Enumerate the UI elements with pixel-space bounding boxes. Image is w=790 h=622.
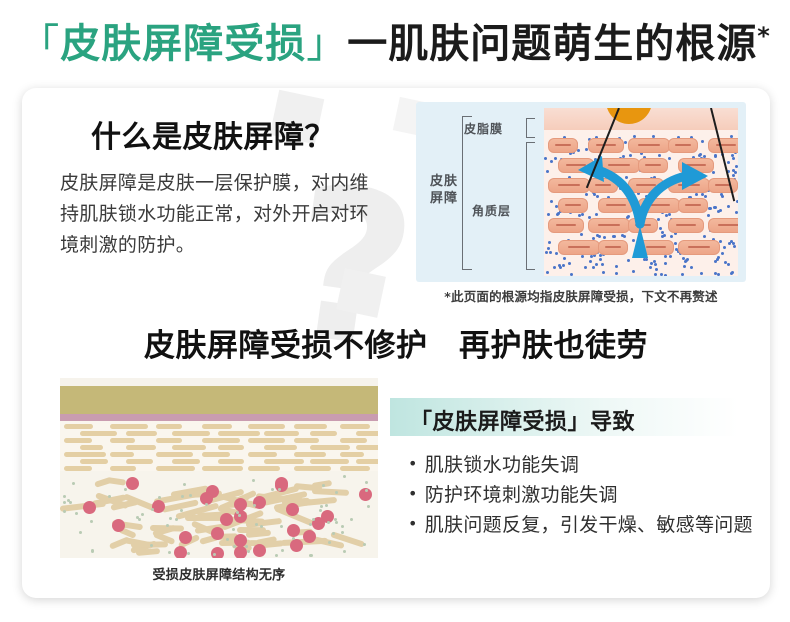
list-item-label: 防护环境刺激功能失调 bbox=[425, 480, 618, 510]
lipid-streak bbox=[110, 466, 136, 471]
green-speck bbox=[63, 495, 66, 498]
page-title-text: 「皮肤屏障受损」一肌肤问题萌生的根源* bbox=[19, 24, 771, 64]
lipid-streak bbox=[64, 424, 93, 429]
lipid-streak bbox=[172, 445, 206, 450]
green-speck bbox=[181, 495, 184, 498]
green-speck bbox=[166, 524, 169, 527]
green-speck bbox=[365, 489, 368, 492]
lipid-streak bbox=[310, 459, 349, 464]
corneum-bracket bbox=[526, 142, 535, 270]
photo-mauve-layer bbox=[60, 414, 378, 421]
lipid-streak bbox=[126, 431, 157, 436]
damaged-barrier-illustration bbox=[60, 378, 378, 558]
green-speck bbox=[319, 509, 322, 512]
label-skin-barrier-line1: 皮肤 bbox=[430, 174, 458, 189]
sebum-bracket bbox=[526, 118, 535, 138]
green-speck bbox=[341, 531, 344, 534]
pink-particle bbox=[303, 530, 316, 543]
lipid-streak bbox=[202, 438, 240, 443]
diagram-footnote: *此页面的根源均指皮肤屏障受损，下文不再赘述 bbox=[416, 286, 746, 305]
pink-particle bbox=[253, 544, 266, 557]
lipid-streak bbox=[110, 452, 134, 457]
lipid-streak bbox=[294, 466, 331, 471]
green-speck bbox=[252, 479, 255, 482]
green-speck bbox=[278, 488, 281, 491]
lipid-streak bbox=[156, 438, 182, 443]
green-speck bbox=[312, 518, 315, 521]
green-speck bbox=[253, 504, 256, 507]
diagram-skin-cross-section bbox=[544, 108, 738, 276]
lipid-streak bbox=[172, 431, 210, 436]
pink-particle bbox=[287, 524, 300, 537]
green-speck bbox=[335, 521, 338, 524]
lipid-streak bbox=[248, 424, 285, 429]
list-item-label: 肌肤问题反复，引发干燥、敏感等问题 bbox=[425, 510, 753, 540]
lipid-streak bbox=[202, 466, 243, 471]
what-is-barrier-body: 皮肤屏障是皮肤一层保护膜，对内维持肌肤锁水功能正常，对外开启对环境刺激的防护。 bbox=[60, 168, 378, 260]
bullet-marker: • bbox=[408, 450, 418, 478]
watermark-square bbox=[336, 268, 386, 318]
lipid-streak bbox=[218, 459, 244, 464]
label-skin-barrier-line2: 屏障 bbox=[430, 191, 458, 206]
photo-caption: 受损皮肤屏障结构无序 bbox=[60, 564, 378, 583]
lipid-streak bbox=[310, 445, 350, 450]
lipid-streak bbox=[340, 452, 364, 457]
title-highlight: 皮肤屏障受损 bbox=[60, 21, 306, 67]
label-skin-barrier: 皮肤屏障 bbox=[424, 174, 464, 207]
green-speck bbox=[325, 504, 328, 507]
lipid-streak bbox=[248, 466, 280, 471]
green-speck bbox=[335, 491, 338, 494]
lipid-streak bbox=[356, 459, 378, 464]
lipid-streak bbox=[340, 438, 367, 443]
consequences-list: •肌肤锁水功能失调•防护环境刺激功能失调•肌肤问题反复，引发干燥、敏感等问题 bbox=[408, 450, 758, 540]
green-speck bbox=[247, 550, 250, 553]
lipid-streak bbox=[126, 459, 153, 464]
green-speck bbox=[332, 532, 335, 535]
lipid-streak bbox=[294, 452, 326, 457]
green-speck bbox=[280, 525, 283, 528]
lipid-streak bbox=[264, 459, 304, 464]
pink-particle bbox=[179, 531, 192, 544]
green-speck bbox=[236, 511, 239, 514]
content-card: ? 什么是皮肤屏障？ 皮肤屏障是皮肤一层保护膜，对内维持肌肤锁水功能正常，对外开… bbox=[22, 88, 770, 598]
diagram-labels: 皮脂膜 皮肤屏障 角质层 bbox=[416, 102, 544, 282]
green-speck bbox=[124, 488, 127, 491]
lipid-streak bbox=[340, 466, 370, 471]
list-item: •防护环境刺激功能失调 bbox=[408, 480, 758, 510]
lipid-streak bbox=[202, 452, 230, 457]
title-bracket-close: 」 bbox=[306, 21, 347, 67]
lipid-streak bbox=[64, 466, 92, 471]
lipid-streak bbox=[340, 424, 370, 429]
lipid-streak bbox=[294, 424, 327, 429]
pink-particle bbox=[83, 501, 96, 514]
photo-olive-layer bbox=[60, 392, 378, 414]
green-speck bbox=[189, 494, 192, 497]
page-root: 「皮肤屏障受损」一肌肤问题萌生的根源* ? 什么是皮肤屏障？ 皮肤屏障是皮肤一层… bbox=[0, 0, 790, 622]
green-speck bbox=[187, 552, 190, 555]
pink-particle bbox=[220, 513, 233, 526]
green-speck bbox=[260, 525, 263, 528]
pink-particle bbox=[211, 527, 224, 540]
damage-heading: 皮肤屏障受损不修护 再护肤也徒劳 bbox=[22, 320, 770, 365]
lipid-streak bbox=[172, 459, 200, 464]
lipid-streak bbox=[110, 424, 148, 429]
lipid-streak bbox=[64, 452, 106, 457]
label-stratum-corneum: 角质层 bbox=[472, 202, 511, 219]
lipid-streak bbox=[80, 445, 103, 450]
what-is-barrier-heading: 什么是皮肤屏障？ bbox=[48, 112, 378, 156]
lipid-streak bbox=[356, 445, 378, 450]
lipid-streak bbox=[64, 438, 92, 443]
lipid-streak bbox=[156, 452, 193, 457]
bullet-marker: • bbox=[408, 510, 418, 538]
lipid-streak bbox=[310, 431, 337, 436]
title-rest: 一肌肤问题萌生的根源 bbox=[347, 21, 757, 67]
pink-particle bbox=[152, 500, 165, 513]
pink-particle bbox=[174, 546, 187, 558]
lipid-streak bbox=[294, 438, 319, 443]
green-speck bbox=[365, 481, 368, 484]
pink-particle bbox=[286, 503, 299, 516]
green-speck bbox=[334, 518, 337, 521]
title-asterisk: * bbox=[757, 22, 771, 50]
list-item: •肌肤锁水功能失调 bbox=[408, 450, 758, 480]
lipid-streak bbox=[156, 424, 182, 429]
list-item-label: 肌肤锁水功能失调 bbox=[425, 450, 579, 480]
green-speck bbox=[175, 518, 178, 521]
green-speck bbox=[281, 549, 284, 552]
consequences-title: 「皮肤屏障受损」导致 bbox=[410, 404, 750, 436]
lipid-streak bbox=[248, 452, 277, 457]
page-title: 「皮肤屏障受损」一肌肤问题萌生的根源* bbox=[0, 14, 790, 74]
label-sebum-film: 皮脂膜 bbox=[464, 120, 503, 137]
lipid-streak bbox=[80, 431, 117, 436]
lipid-streak bbox=[80, 459, 108, 464]
skin-barrier-diagram: 皮脂膜 皮肤屏障 角质层 bbox=[416, 102, 746, 282]
lipid-streak bbox=[356, 431, 378, 436]
green-speck bbox=[292, 537, 295, 540]
lipid-streak bbox=[110, 438, 135, 443]
bullet-marker: • bbox=[408, 480, 418, 508]
lipid-streak bbox=[264, 445, 297, 450]
lipid-streak bbox=[202, 424, 232, 429]
green-speck bbox=[350, 518, 353, 521]
green-speck bbox=[69, 501, 72, 504]
list-item: •肌肤问题反复，引发干燥、敏感等问题 bbox=[408, 510, 758, 540]
green-speck bbox=[151, 508, 154, 511]
green-speck bbox=[232, 528, 235, 531]
lipid-streak bbox=[218, 431, 260, 436]
lipid-streak bbox=[248, 438, 285, 443]
title-bracket-open: 「 bbox=[19, 21, 60, 67]
lipid-streak bbox=[264, 431, 299, 436]
lipid-streak bbox=[126, 445, 156, 450]
lipid-streak bbox=[218, 445, 244, 450]
lipid-streak bbox=[156, 466, 195, 471]
